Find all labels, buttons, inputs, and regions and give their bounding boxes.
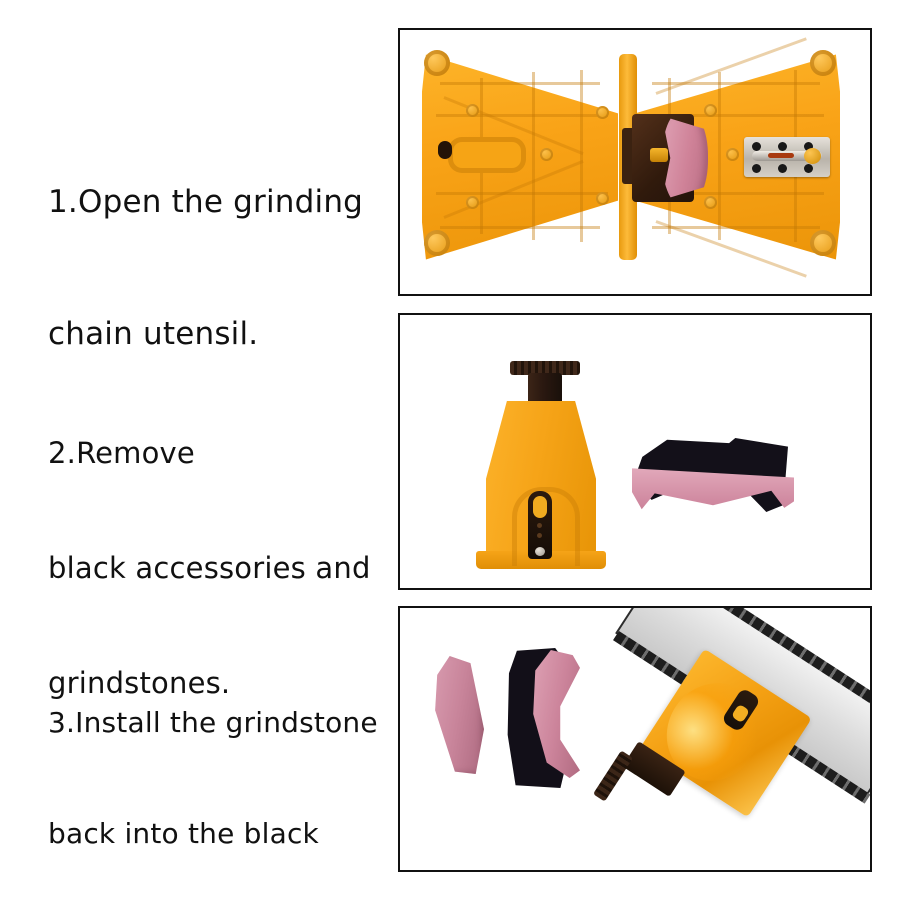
wing-boss <box>466 104 479 117</box>
plate-hole <box>778 164 787 173</box>
fitting-screw <box>650 148 668 162</box>
step-3-line-1: 3.Install the grindstone <box>48 700 456 745</box>
wing-boss <box>540 148 553 161</box>
slot-dot <box>537 523 542 528</box>
wing-rib <box>440 82 600 85</box>
wing-boss <box>466 196 479 209</box>
step-3-line-2: back into the black <box>48 811 456 856</box>
wing-rib <box>580 70 583 242</box>
oval-slot-cap <box>438 141 452 159</box>
wing-corner-post <box>424 50 450 76</box>
slot-dot <box>537 533 542 538</box>
oval-slot <box>448 137 526 173</box>
wing-boss <box>596 192 609 205</box>
step-2-line-1: 2.Remove <box>48 430 371 477</box>
slot-highlight <box>533 496 547 518</box>
step-2-line-2: black accessories and <box>48 545 371 592</box>
plate-hole <box>778 142 787 151</box>
wing-boss <box>596 106 609 119</box>
plate-hole <box>752 142 761 151</box>
step-2-image-panel <box>398 313 872 590</box>
wing-rib <box>718 72 721 240</box>
step-3-text: 3.Install the grindstone back into the b… <box>48 634 456 900</box>
body-and-accessories-illustration <box>400 315 870 588</box>
wing-corner-post <box>810 230 836 256</box>
pink-grindstone <box>432 656 484 774</box>
wing-corner-post <box>810 50 836 76</box>
knurled-knob <box>593 750 633 801</box>
wing-rib <box>440 226 600 229</box>
step-1-line-1: 1.Open the grinding <box>48 172 363 232</box>
lever-red-marker <box>768 153 794 158</box>
plate-hole <box>752 164 761 173</box>
wing-boss <box>704 104 717 117</box>
slot-screw <box>535 547 545 556</box>
infographic-page: 1.Open the grinding chain utensil. <box>0 0 900 900</box>
step-1-image-panel <box>398 28 872 296</box>
wing-corner-post <box>424 230 450 256</box>
step-3-image-panel <box>398 606 872 872</box>
reassembly-illustration <box>400 608 870 870</box>
step-1-line-2: chain utensil. <box>48 304 363 364</box>
opened-bowtie-sharpener-illustration <box>400 30 870 294</box>
plate-hole <box>804 164 813 173</box>
wing-boss <box>704 196 717 209</box>
lever-knob <box>804 148 821 164</box>
wing-boss <box>726 148 739 161</box>
wing-rib <box>532 72 535 240</box>
